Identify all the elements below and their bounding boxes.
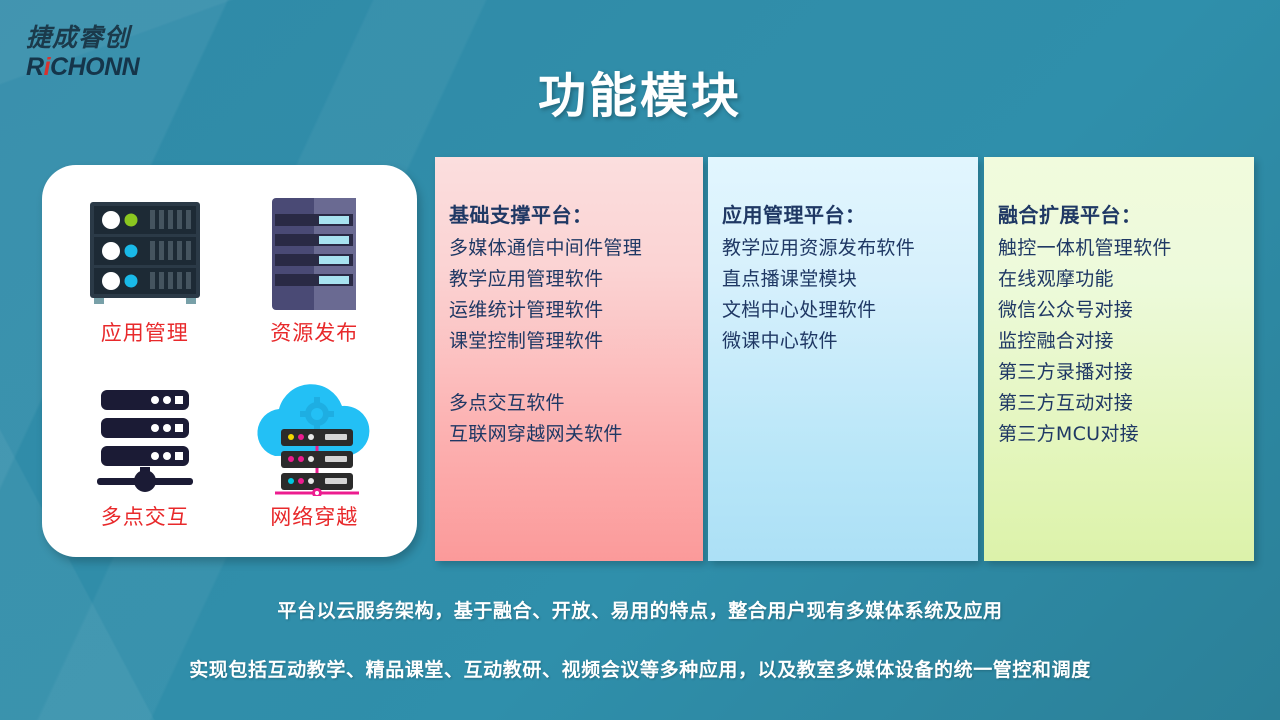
- list-item: 运维统计管理软件: [449, 295, 703, 326]
- icon-label: 资源发布: [270, 317, 358, 347]
- list-item: 触控一体机管理软件: [998, 233, 1254, 264]
- list-item: 第三方MCU对接: [998, 419, 1254, 450]
- panel-application-management: 应用管理平台： 教学应用资源发布软件 直点播课堂模块 文档中心处理软件 微课中心…: [708, 157, 978, 561]
- icon-cell-resource-publishing[interactable]: 资源发布: [230, 179, 400, 363]
- list-item: 监控融合对接: [998, 326, 1254, 357]
- panel-title: 基础支撑平台：: [449, 199, 703, 228]
- list-item: 多点交互软件: [449, 388, 703, 419]
- list-item: 直点播课堂模块: [722, 264, 978, 295]
- list-item: 第三方录播对接: [998, 357, 1254, 388]
- page-title: 功能模块: [0, 56, 1280, 126]
- panel-item-list: 触控一体机管理软件 在线观摩功能 微信公众号对接 监控融合对接 第三方录播对接 …: [998, 233, 1254, 450]
- cloud-servers-icon: [251, 379, 377, 497]
- icon-label: 网络穿越: [270, 501, 358, 531]
- server-rack-icon: [86, 195, 204, 313]
- panel-convergence-expansion: 融合扩展平台： 触控一体机管理软件 在线观摩功能 微信公众号对接 监控融合对接 …: [984, 157, 1254, 561]
- list-item: 在线观摩功能: [998, 264, 1254, 295]
- stacked-servers-node-icon: [87, 379, 203, 497]
- list-item: 文档中心处理软件: [722, 295, 978, 326]
- footer-line-2: 实现包括互动教学、精品课堂、互动教研、视频会议等多种应用，以及教室多媒体设备的统…: [0, 655, 1280, 682]
- list-item: 多媒体通信中间件管理: [449, 233, 703, 264]
- list-item: 教学应用管理软件: [449, 264, 703, 295]
- panel-foundation-platform: 基础支撑平台： 多媒体通信中间件管理 教学应用管理软件 运维统计管理软件 课堂控…: [435, 157, 703, 561]
- logo-chinese-text: 捷成睿创: [26, 24, 216, 52]
- panel-title: 应用管理平台：: [722, 199, 978, 228]
- list-item: 互联网穿越网关软件: [449, 419, 703, 450]
- list-item: 第三方互动对接: [998, 388, 1254, 419]
- list-item: 微信公众号对接: [998, 295, 1254, 326]
- panel-item-list: 多媒体通信中间件管理 教学应用管理软件 运维统计管理软件 课堂控制管理软件 多点…: [449, 233, 703, 450]
- panel-title: 融合扩展平台：: [998, 199, 1254, 228]
- list-item: 微课中心软件: [722, 326, 978, 357]
- icon-cell-application-management[interactable]: 应用管理: [60, 179, 230, 363]
- icon-label: 多点交互: [101, 501, 189, 531]
- list-item: 课堂控制管理软件: [449, 326, 703, 357]
- server-cabinet-icon: [269, 195, 359, 313]
- icon-label: 应用管理: [101, 317, 189, 347]
- footer-line-1: 平台以云服务架构，基于融合、开放、易用的特点，整合用户现有多媒体系统及应用: [0, 596, 1280, 623]
- list-item-spacer: [449, 357, 703, 388]
- slide-canvas: 捷成睿创 RiCHONN 功能模块: [0, 0, 1280, 720]
- icon-cell-network-traversal[interactable]: 网络穿越: [230, 363, 400, 547]
- icon-card: 应用管理: [42, 165, 417, 557]
- icon-cell-multipoint-interaction[interactable]: 多点交互: [60, 363, 230, 547]
- panel-item-list: 教学应用资源发布软件 直点播课堂模块 文档中心处理软件 微课中心软件: [722, 233, 978, 357]
- list-item: 教学应用资源发布软件: [722, 233, 978, 264]
